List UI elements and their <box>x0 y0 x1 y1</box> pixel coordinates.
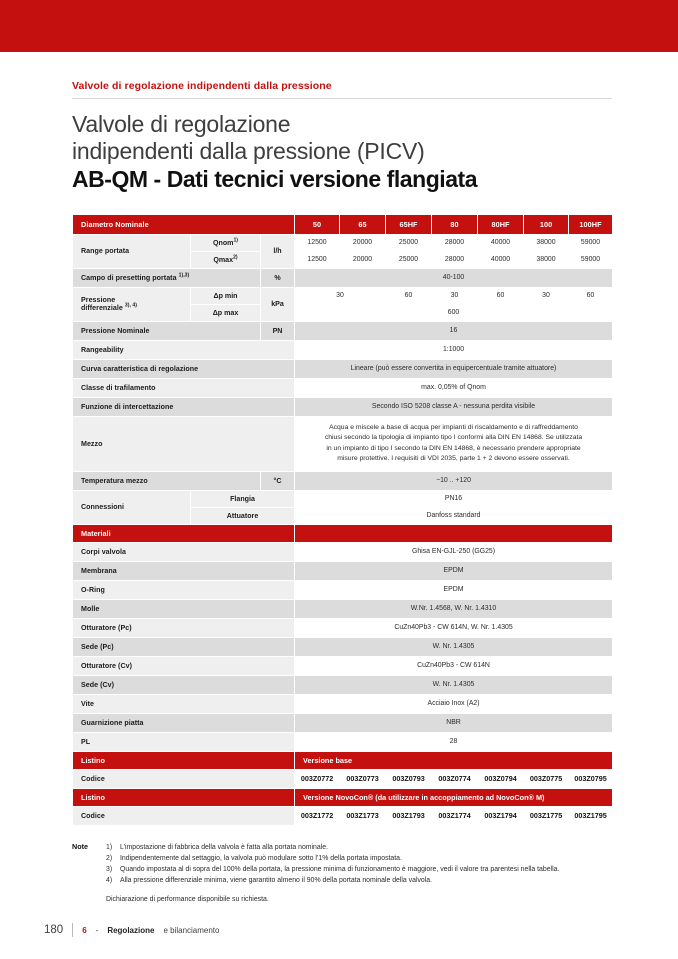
cell-qmax-65: 20000 <box>340 251 386 268</box>
section-label-listino-base: Listino <box>73 751 295 769</box>
cell-qnom-65: 20000 <box>340 234 386 251</box>
footer-chapter-subtitle: e bilanciamento <box>163 926 219 935</box>
section-bar-materiali-fill <box>295 524 613 542</box>
table-row: Pressione Nominale PN 16 <box>73 321 613 340</box>
cell-qnom-65hf: 25000 <box>386 234 432 251</box>
table-row: Vite Acciaio Inox (A2) <box>73 694 613 713</box>
row-label-vite: Vite <box>73 694 295 713</box>
row-label-presetting: Campo di presetting portata 1),3) <box>73 268 261 287</box>
sub-label-dp-max: Δp max <box>191 304 261 321</box>
table-row: Corpi valvola Ghisa EN-GJL-250 (GG25) <box>73 542 613 561</box>
notes-block: Note 1) L’impostazione di fabbrica della… <box>72 842 612 905</box>
footer-divider <box>72 923 73 937</box>
notes-title: Note <box>72 842 98 905</box>
table-row: Sede (Pc) W. Nr. 1.4305 <box>73 637 613 656</box>
footer-dash: - <box>96 926 99 935</box>
cell-qnom-80: 28000 <box>432 234 478 251</box>
mezzo-line-1: Acqua e miscele a base di acqua per impi… <box>329 424 578 431</box>
row-label-molle: Molle <box>73 599 295 618</box>
unit-presetting: % <box>261 268 295 287</box>
row-label-curva: Curva caratteristica di regolazione <box>73 359 295 378</box>
row-label-membrana: Membrana <box>73 561 295 580</box>
cell-code-novocon-100: 003Z1775 <box>524 806 569 825</box>
page: Valvole di regolazione indipendenti dall… <box>0 0 678 959</box>
note-text-2: Indipendentemente dal settaggio, la valv… <box>120 853 402 864</box>
row-label-pl: PL <box>73 732 295 751</box>
row-label-codice-novocon: Codice <box>73 806 295 825</box>
table-row: Pressione differenziale 3), 4) Δp min kP… <box>73 287 613 304</box>
cell-pl-value: 28 <box>295 732 613 751</box>
row-label-rangeability: Rangeability <box>73 340 295 359</box>
cell-o-ring-value: EPDM <box>295 580 613 599</box>
table-row: Connessioni Flangia PN16 <box>73 490 613 507</box>
cell-trafilamento-value: max. 0,05% of Qnom <box>295 378 613 397</box>
footer-chapter-title: Regolazione <box>107 926 154 935</box>
header-col-100: 100 <box>524 214 569 234</box>
section-header-listino-novocon: Listino Versione NovoCon® (da utilizzare… <box>73 788 613 806</box>
cell-code-base-50: 003Z0772 <box>295 769 340 788</box>
sub-label-qmax: Qmax2) <box>191 251 261 268</box>
cell-molle-value: W.Nr. 1.4568, W. Nr. 1.4310 <box>295 599 613 618</box>
section-version-listino-novocon: Versione NovoCon® (da utilizzare in acco… <box>295 788 613 806</box>
cell-dpmin-100hf: 60 <box>569 287 613 304</box>
pressione-diff-footnote-marker: 3), 4) <box>125 303 137 309</box>
row-label-pressione-nominale: Pressione Nominale <box>73 321 261 340</box>
row-label-sede-cv: Sede (Cv) <box>73 675 295 694</box>
cell-qmax-100: 38000 <box>524 251 569 268</box>
qnom-text: Qnom <box>213 239 234 247</box>
row-label-codice-base: Codice <box>73 769 295 788</box>
qnom-footnote-marker: 1) <box>233 237 238 243</box>
row-label-guarnizione-piatta: Guarnizione piatta <box>73 713 295 732</box>
row-label-otturatore-pc: Otturatore (Pc) <box>73 618 295 637</box>
cell-dpmin-80: 30 <box>432 287 478 304</box>
section-header-materiali: Materiali <box>73 524 613 542</box>
cell-flangia-value: PN16 <box>295 490 613 507</box>
table-row: Curva caratteristica di regolazione Line… <box>73 359 613 378</box>
table-row: Temperatura mezzo °C −10 .. +120 <box>73 471 613 490</box>
header-diametro-nominale: Diametro Nominale <box>73 214 295 234</box>
table-row: PL 28 <box>73 732 613 751</box>
cell-corpi-valvola-value: Ghisa EN-GJL-250 (GG25) <box>295 542 613 561</box>
row-label-sede-pc: Sede (Pc) <box>73 637 295 656</box>
sub-label-flangia: Flangia <box>191 490 295 507</box>
table-row: Otturatore (Cv) CuZn40Pb3 - CW 614N <box>73 656 613 675</box>
cell-qnom-100: 38000 <box>524 234 569 251</box>
unit-temperatura: °C <box>261 471 295 490</box>
qmax-footnote-marker: 2) <box>233 254 238 260</box>
row-label-temperatura: Temperatura mezzo <box>73 471 261 490</box>
cell-qnom-50: 12500 <box>295 234 340 251</box>
section-label-listino-novocon: Listino <box>73 788 295 806</box>
sub-label-dp-min: Δp min <box>191 287 261 304</box>
table-row: Range portata Qnom1) l/h 12500 20000 250… <box>73 234 613 251</box>
cell-qmax-65hf: 25000 <box>386 251 432 268</box>
page-title-line-3: AB-QM - Dati tecnici versione flangiata <box>72 165 612 193</box>
row-label-mezzo: Mezzo <box>73 416 295 471</box>
cell-otturatore-pc-value: CuZn40Pb3 - CW 614N, W. Nr. 1.4305 <box>295 618 613 637</box>
note-item: 4) Alla pressione differenziale minima, … <box>106 875 559 886</box>
top-red-band <box>0 0 678 52</box>
unit-pressione-nominale: PN <box>261 321 295 340</box>
cell-dpmin-65hf: 60 <box>386 287 432 304</box>
footer-page-number: 180 <box>44 924 63 936</box>
header-col-65: 65 <box>340 214 386 234</box>
cell-code-base-100: 003Z0775 <box>524 769 569 788</box>
cell-otturatore-cv-value: CuZn40Pb3 - CW 614N <box>295 656 613 675</box>
cell-code-base-100hf: 003Z0795 <box>569 769 613 788</box>
cell-attuatore-value: Danfoss standard <box>295 507 613 524</box>
cell-qmax-80: 28000 <box>432 251 478 268</box>
cell-code-base-80hf: 003Z0794 <box>478 769 524 788</box>
table-header-row: Diametro Nominale 50 65 65HF 80 80HF 100… <box>73 214 613 234</box>
cell-code-novocon-80: 003Z1774 <box>432 806 478 825</box>
cell-code-novocon-80hf: 003Z1794 <box>478 806 524 825</box>
notes-list: 1) L’impostazione di fabbrica della valv… <box>106 842 559 905</box>
cell-sede-cv-value: W. Nr. 1.4305 <box>295 675 613 694</box>
table-row: Guarnizione piatta NBR <box>73 713 613 732</box>
note-number-4: 4) <box>106 875 115 886</box>
cell-presetting-value: 40-100 <box>295 268 613 287</box>
note-text-3: Quando impostata al di sopra del 100% de… <box>120 864 559 875</box>
cell-code-novocon-50: 003Z1772 <box>295 806 340 825</box>
section-header-listino-base: Listino Versione base <box>73 751 613 769</box>
row-label-trafilamento: Classe di trafilamento <box>73 378 295 397</box>
table-row: Molle W.Nr. 1.4568, W. Nr. 1.4310 <box>73 599 613 618</box>
cell-membrana-value: EPDM <box>295 561 613 580</box>
row-label-o-ring: O-Ring <box>73 580 295 599</box>
cell-qnom-100hf: 59000 <box>569 234 613 251</box>
cell-guarnizione-piatta-value: NBR <box>295 713 613 732</box>
cell-rangeability-value: 1:1000 <box>295 340 613 359</box>
table-row: O-Ring EPDM <box>73 580 613 599</box>
cell-code-base-65hf: 003Z0793 <box>386 769 432 788</box>
header-col-65hf: 65HF <box>386 214 432 234</box>
cell-mezzo-value: Acqua e miscele a base di acqua per impi… <box>295 416 613 471</box>
cell-intercettazione-value: Secondo ISO 5208 classe A - nessuna perd… <box>295 397 613 416</box>
mezzo-line-2: chiusi secondo la tipologia di impianto … <box>325 434 582 441</box>
technical-data-table: Diametro Nominale 50 65 65HF 80 80HF 100… <box>72 214 613 826</box>
page-title-line-1: Valvole di regolazione <box>72 111 612 138</box>
cell-qmax-100hf: 59000 <box>569 251 613 268</box>
header-divider <box>72 98 612 99</box>
cell-dpmin-100: 30 <box>524 287 569 304</box>
eyebrow-text: Valvole di regolazione indipendenti dall… <box>72 80 612 98</box>
page-footer: 180 6 - Regolazione e bilanciamento <box>44 923 219 937</box>
section-version-listino-base: Versione base <box>295 751 613 769</box>
qmax-text: Qmax <box>213 256 233 264</box>
cell-qmax-50: 12500 <box>295 251 340 268</box>
page-title-line-2: indipendenti dalla pressione (PICV) <box>72 138 612 165</box>
cell-dpmax-value: 600 <box>295 304 613 321</box>
note-number-3: 3) <box>106 864 115 875</box>
row-label-otturatore-cv: Otturatore (Cv) <box>73 656 295 675</box>
cell-code-novocon-100hf: 003Z1795 <box>569 806 613 825</box>
presetting-text: Campo di presetting portata <box>81 274 177 282</box>
table-row: Otturatore (Pc) CuZn40Pb3 - CW 614N, W. … <box>73 618 613 637</box>
row-label-range-portata: Range portata <box>73 234 191 268</box>
header-col-50: 50 <box>295 214 340 234</box>
cell-curva-value: Lineare (può essere convertita in equipe… <box>295 359 613 378</box>
note-text-4: Alla pressione differenziale minima, vie… <box>120 875 432 886</box>
table-row: Campo di presetting portata 1),3) % 40-1… <box>73 268 613 287</box>
cell-code-base-65: 003Z0773 <box>340 769 386 788</box>
cell-qnom-80hf: 40000 <box>478 234 524 251</box>
table-row: Codice 003Z0772 003Z0773 003Z0793 003Z07… <box>73 769 613 788</box>
unit-pressione-differenziale: kPa <box>261 287 295 321</box>
mezzo-line-3: in un impianto di tipo I secondo la DIN … <box>326 445 580 452</box>
note-number-1: 1) <box>106 842 115 853</box>
cell-temperatura-value: −10 .. +120 <box>295 471 613 490</box>
table-row: Classe di trafilamento max. 0,05% of Qno… <box>73 378 613 397</box>
sub-label-qnom: Qnom1) <box>191 234 261 251</box>
cell-pressione-nominale-value: 16 <box>295 321 613 340</box>
mezzo-line-4: misure protettive. I requisiti di VDI 20… <box>337 455 570 462</box>
table-row: Codice 003Z1772 003Z1773 003Z1793 003Z17… <box>73 806 613 825</box>
header-col-80: 80 <box>432 214 478 234</box>
footer-chapter-number: 6 <box>82 926 86 935</box>
cell-sede-pc-value: W. Nr. 1.4305 <box>295 637 613 656</box>
cell-code-novocon-65: 003Z1773 <box>340 806 386 825</box>
table-row: Sede (Cv) W. Nr. 1.4305 <box>73 675 613 694</box>
unit-range-portata: l/h <box>261 234 295 268</box>
header-col-80hf: 80HF <box>478 214 524 234</box>
note-text-1: L’impostazione di fabbrica della valvola… <box>120 842 328 853</box>
cell-dpmin-50-65: 30 <box>295 287 386 304</box>
cell-vite-value: Acciaio Inox (A2) <box>295 694 613 713</box>
note-number-2: 2) <box>106 853 115 864</box>
page-content: Valvole di regolazione indipendenti dall… <box>72 80 612 905</box>
section-label-materiali: Materiali <box>73 524 295 542</box>
note-item: 2) Indipendentemente dal settaggio, la v… <box>106 853 559 864</box>
table-row: Membrana EPDM <box>73 561 613 580</box>
sub-label-attuatore: Attuatore <box>191 507 295 524</box>
table-row: Funzione di intercettazione Secondo ISO … <box>73 397 613 416</box>
cell-code-base-80: 003Z0774 <box>432 769 478 788</box>
row-label-connessioni: Connessioni <box>73 490 191 524</box>
table-row: Rangeability 1:1000 <box>73 340 613 359</box>
table-row: Mezzo Acqua e miscele a base di acqua pe… <box>73 416 613 471</box>
row-label-intercettazione: Funzione di intercettazione <box>73 397 295 416</box>
note-item: 1) L’impostazione di fabbrica della valv… <box>106 842 559 853</box>
row-label-corpi-valvola: Corpi valvola <box>73 542 295 561</box>
cell-dpmin-80hf: 60 <box>478 287 524 304</box>
row-label-pressione-differenziale: Pressione differenziale 3), 4) <box>73 287 191 321</box>
cell-code-novocon-65hf: 003Z1793 <box>386 806 432 825</box>
pressione-diff-line-2: differenziale <box>81 304 123 312</box>
header-col-100hf: 100HF <box>569 214 613 234</box>
cell-qmax-80hf: 40000 <box>478 251 524 268</box>
note-item: 3) Quando impostata al di sopra del 100%… <box>106 864 559 875</box>
presetting-footnote-marker: 1),3) <box>179 272 190 278</box>
note-extra-text: Dichiarazione di performance disponibile… <box>106 887 559 905</box>
